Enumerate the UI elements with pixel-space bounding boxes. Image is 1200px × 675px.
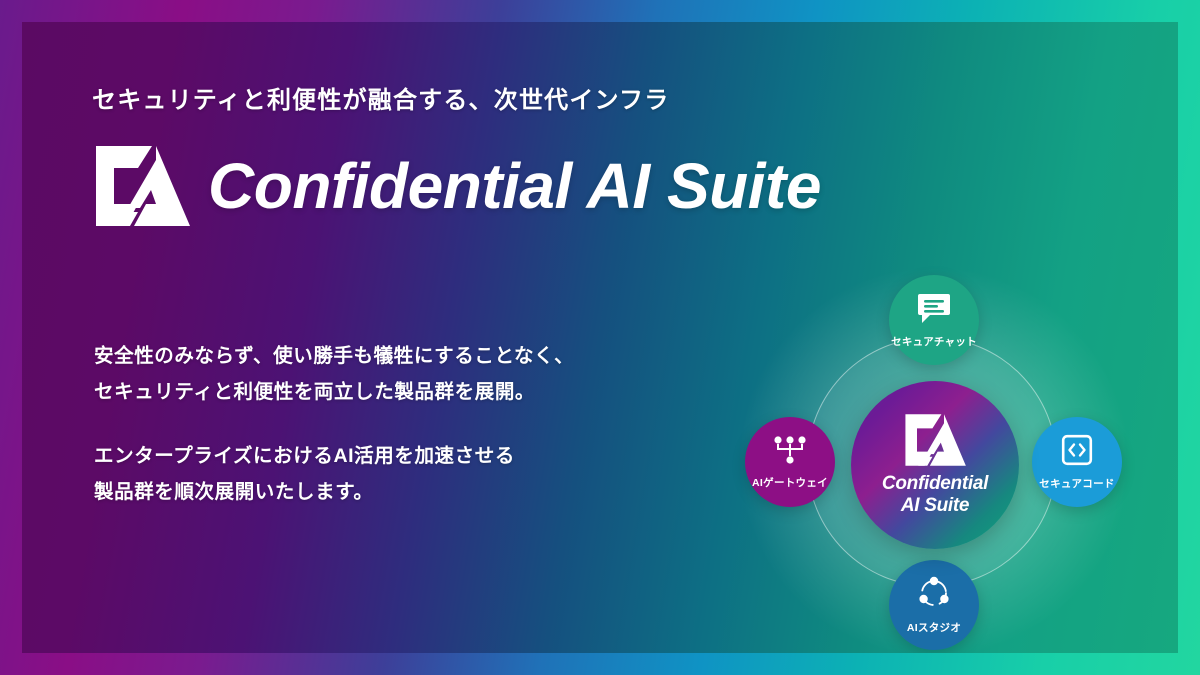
tagline: セキュリティと利便性が融合する、次世代インフラ [92, 80, 669, 115]
diagram-node-ai-gateway[interactable]: AIゲートウェイ [745, 417, 835, 507]
diagram-node-label: AIゲートウェイ [752, 475, 828, 490]
body-paragraph-1: 安全性のみならず、使い勝手も犠牲にすることなく、 セキュリティと利便性を両立した… [94, 338, 574, 410]
brand-name: Confidential AI Suite [208, 154, 821, 218]
diagram-node-confidential-ai-suite[interactable]: Confidential AI Suite [851, 381, 1019, 549]
slide-frame: セキュリティと利便性が融合する、次世代インフラ Confidential AI … [0, 0, 1200, 675]
body-line: 製品群を順次展開いたします。 [94, 474, 515, 510]
diagram-node-label: セキュアチャット [891, 334, 977, 349]
core-label: Confidential AI Suite [882, 473, 988, 517]
gateway-hub-icon [773, 435, 807, 470]
diagram-node-secure-chat[interactable]: セキュアチャット [889, 275, 979, 365]
core-label-line-2: AI Suite [882, 495, 988, 517]
chat-bubble-icon [917, 292, 951, 329]
product-suite-diagram: セキュアチャット セキュアコード [722, 252, 1152, 653]
core-label-line-1: Confidential [882, 473, 988, 495]
body-paragraph-2: エンタープライズにおけるAI活用を加速させる 製品群を順次展開いたします。 [94, 438, 515, 510]
diagram-node-secure-code[interactable]: セキュアコード [1032, 417, 1122, 507]
share-nodes-icon [917, 576, 951, 615]
brand-lockup: Confidential AI Suite [94, 144, 821, 228]
code-brackets-icon [1061, 434, 1093, 471]
confidential-ai-suite-logo-mark-icon [904, 413, 966, 469]
diagram-node-label: AIスタジオ [907, 620, 961, 635]
slide-panel: セキュリティと利便性が融合する、次世代インフラ Confidential AI … [22, 22, 1178, 653]
diagram-node-label: セキュアコード [1039, 476, 1114, 491]
confidential-ai-suite-logo-mark-icon [94, 144, 190, 228]
body-line: セキュリティと利便性を両立した製品群を展開。 [94, 374, 574, 410]
diagram-node-ai-studio[interactable]: AIスタジオ [889, 560, 979, 650]
body-line: 安全性のみならず、使い勝手も犠牲にすることなく、 [94, 338, 574, 374]
body-line: エンタープライズにおけるAI活用を加速させる [94, 438, 515, 474]
